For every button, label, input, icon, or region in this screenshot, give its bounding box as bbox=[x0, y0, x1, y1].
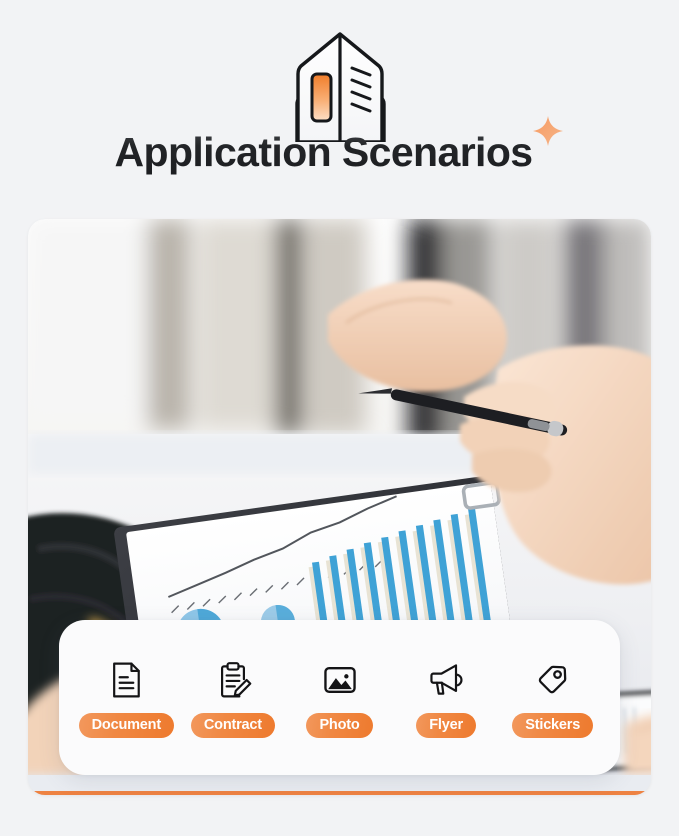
category-label-flyer[interactable]: Flyer bbox=[416, 713, 476, 738]
document-icon bbox=[103, 657, 149, 703]
title-row: Application Scenarios bbox=[0, 126, 679, 178]
category-photo[interactable]: Photo bbox=[286, 657, 393, 738]
category-contract[interactable]: Contract bbox=[180, 657, 287, 738]
page-title: Application Scenarios bbox=[114, 126, 532, 178]
image-icon bbox=[317, 657, 363, 703]
category-card: Document Contract Photo bbox=[59, 620, 620, 775]
header: Application Scenarios bbox=[0, 0, 679, 208]
category-label-photo[interactable]: Photo bbox=[306, 713, 372, 738]
category-document[interactable]: Document bbox=[73, 657, 180, 738]
category-label-stickers[interactable]: Stickers bbox=[512, 713, 593, 738]
category-flyer[interactable]: Flyer bbox=[393, 657, 500, 738]
category-label-contract[interactable]: Contract bbox=[191, 713, 275, 738]
megaphone-icon bbox=[423, 657, 469, 703]
tag-icon bbox=[530, 657, 576, 703]
category-stickers[interactable]: Stickers bbox=[499, 657, 606, 738]
sparkle-icon bbox=[531, 114, 565, 148]
category-label-document[interactable]: Document bbox=[79, 713, 174, 738]
contract-clipboard-pencil-icon bbox=[210, 657, 256, 703]
